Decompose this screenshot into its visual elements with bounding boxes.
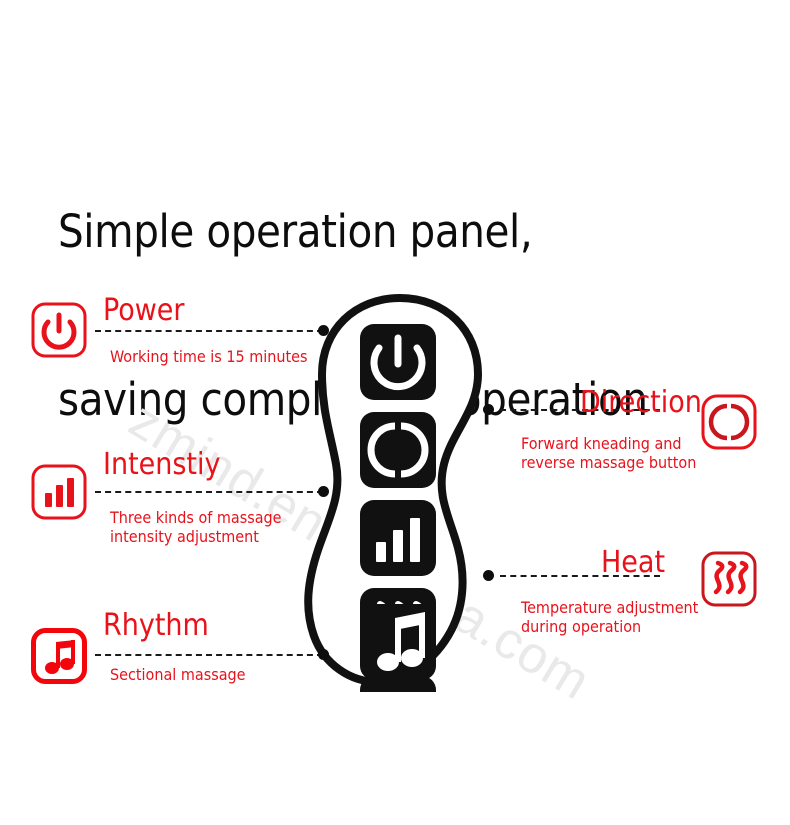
callout-direction-title: Direction (580, 388, 702, 418)
direction-icon[interactable] (700, 393, 758, 451)
callout-rhythm-title: Rhythm (103, 611, 209, 641)
music-note-icon[interactable] (30, 627, 88, 685)
callout-heat-title: Heat (601, 548, 665, 578)
callout-rhythm-desc: Sectional massage (110, 665, 246, 684)
callout-intensity-title: Intenstiy (103, 450, 220, 480)
callout-power-desc: Working time is 15 minutes (110, 347, 308, 366)
callout-direction-anchor-dot (483, 404, 494, 415)
product-feature-infographic: Simple operation panel, saving complicat… (0, 0, 790, 825)
callout-power-anchor-dot (318, 325, 329, 336)
remote-button-direction (360, 412, 436, 488)
callout-heat-desc-line-2: during operation (521, 617, 641, 636)
callout-intensity-leader-line (95, 491, 323, 493)
callout-intensity-anchor-dot (318, 486, 329, 497)
heat-waves-icon[interactable] (700, 550, 758, 608)
power-icon[interactable] (30, 301, 88, 359)
remote-button-intensity (360, 500, 436, 576)
callout-heat-anchor-dot (483, 570, 494, 581)
remote-button-power (360, 324, 436, 400)
callout-direction-desc-line-2: reverse massage button (521, 453, 696, 472)
callout-power-leader-line (95, 330, 323, 332)
callout-rhythm-leader-line (95, 654, 323, 656)
callout-direction-desc-line-1: Forward kneading and (521, 434, 682, 453)
remote-button-rhythm-wrap (300, 600, 500, 690)
callout-intensity-desc-line-1: Three kinds of massage (110, 508, 282, 527)
callout-rhythm-anchor-dot (318, 649, 329, 660)
callout-power-title: Power (103, 296, 185, 326)
bars-icon[interactable] (30, 463, 88, 521)
page-title-line-1: Simple operation panel, (58, 204, 738, 260)
callout-heat-desc-line-1: Temperature adjustment (521, 598, 698, 617)
callout-intensity-desc-line-2: intensity adjustment (110, 527, 259, 546)
